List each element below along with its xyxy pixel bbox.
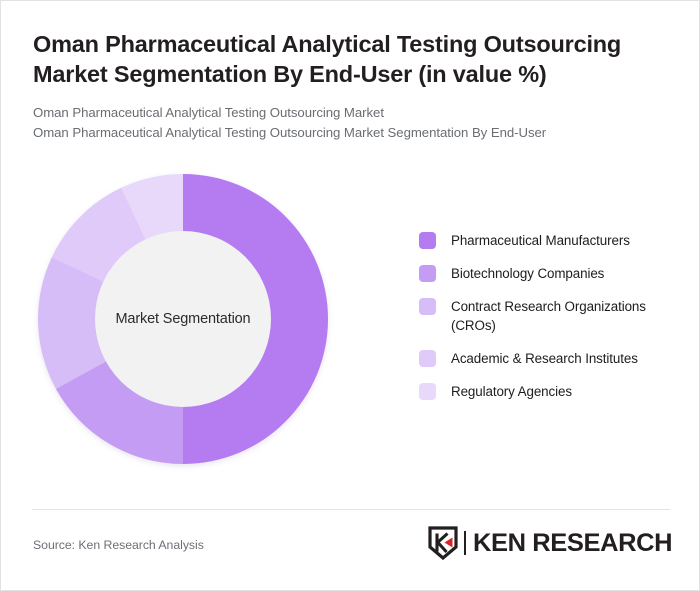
legend-item[interactable]: Biotechnology Companies xyxy=(419,264,681,283)
donut-hole xyxy=(95,231,271,407)
legend-swatch-icon xyxy=(419,298,436,315)
brand-separator xyxy=(464,531,466,555)
legend-swatch-icon xyxy=(419,232,436,249)
page-title: Oman Pharmaceutical Analytical Testing O… xyxy=(33,29,673,89)
subtitle-block: Oman Pharmaceutical Analytical Testing O… xyxy=(33,103,673,143)
legend-item[interactable]: Contract Research Organizations (CROs) xyxy=(419,297,681,335)
legend-item-label: Biotechnology Companies xyxy=(451,264,604,283)
source-note: Source: Ken Research Analysis xyxy=(33,538,204,552)
donut-chart: Market Segmentation xyxy=(33,169,333,469)
ken-research-shield-icon xyxy=(428,526,458,560)
legend-swatch-icon xyxy=(419,383,436,400)
legend-item-label: Pharmaceutical Manufacturers xyxy=(451,231,630,250)
legend-item-label: Academic & Research Institutes xyxy=(451,349,638,368)
subtitle-line-1: Oman Pharmaceutical Analytical Testing O… xyxy=(33,103,673,123)
legend-swatch-icon xyxy=(419,350,436,367)
chart-card: Oman Pharmaceutical Analytical Testing O… xyxy=(0,0,700,591)
brand-logo: KEN RESEARCH xyxy=(428,525,668,561)
brand-wordmark: KEN RESEARCH xyxy=(473,531,672,556)
legend-item-label: Contract Research Organizations (CROs) xyxy=(451,297,681,335)
legend-item[interactable]: Pharmaceutical Manufacturers xyxy=(419,231,681,250)
chart-area: Market Segmentation Pharmaceutical Manuf… xyxy=(1,169,700,499)
legend-item[interactable]: Regulatory Agencies xyxy=(419,382,681,401)
legend-swatch-icon xyxy=(419,265,436,282)
legend-item[interactable]: Academic & Research Institutes xyxy=(419,349,681,368)
subtitle-line-2: Oman Pharmaceutical Analytical Testing O… xyxy=(33,123,673,143)
donut-chart-svg xyxy=(33,169,333,469)
chart-legend: Pharmaceutical ManufacturersBiotechnolog… xyxy=(419,231,681,401)
chart-header: Oman Pharmaceutical Analytical Testing O… xyxy=(33,29,673,143)
legend-item-label: Regulatory Agencies xyxy=(451,382,572,401)
footer-divider xyxy=(32,509,670,510)
